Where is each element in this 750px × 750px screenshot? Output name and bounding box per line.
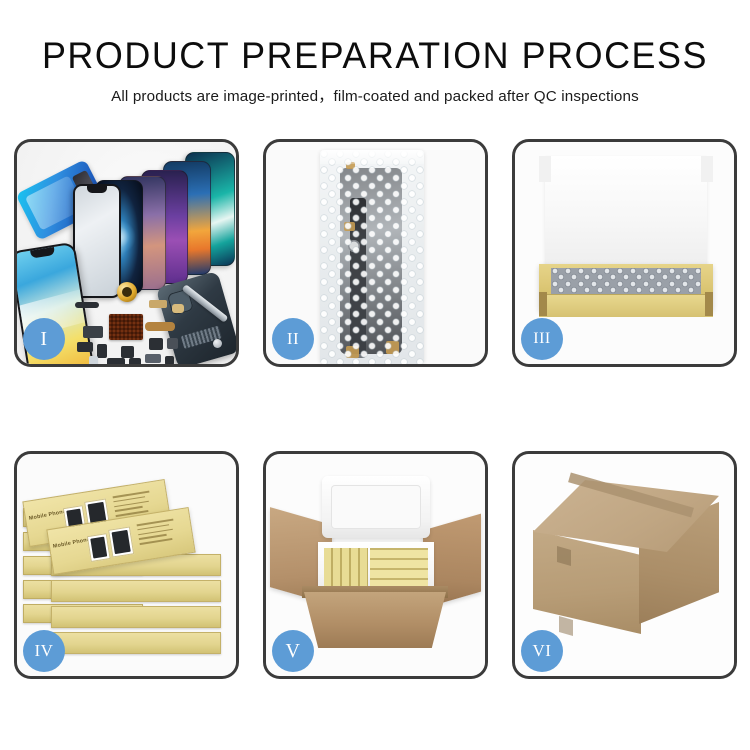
spare-part-graphic xyxy=(83,326,103,338)
kraft-box-front-graphic xyxy=(539,294,713,317)
bubble-texture-graphic xyxy=(320,150,424,364)
packed-boxes-graphic xyxy=(324,548,428,588)
panel-step-2: II xyxy=(263,139,488,367)
spare-part-graphic xyxy=(97,344,107,358)
foam-lid-graphic xyxy=(545,156,707,272)
badge-step-3: III xyxy=(521,318,563,360)
box-window-graphic xyxy=(108,526,134,557)
spare-part-graphic xyxy=(172,304,184,313)
flex-mesh-part-graphic xyxy=(109,314,143,340)
box-spec-lines-graphic xyxy=(137,517,189,552)
bubble-wrap-bag-graphic xyxy=(320,150,424,364)
badge-step-4: IV xyxy=(23,630,65,672)
product-preparation-infographic: PRODUCT PREPARATION PROCESS All products… xyxy=(0,0,750,750)
packed-boxes-left-graphic xyxy=(324,548,368,588)
spare-part-graphic xyxy=(165,356,174,364)
stacked-box-edge xyxy=(51,580,221,602)
panel-step-1: I xyxy=(14,139,239,367)
box-window-graphic xyxy=(87,533,111,562)
spare-part-graphic xyxy=(89,356,98,364)
panel-step-5: V xyxy=(263,451,488,679)
phone-fan-group xyxy=(89,150,236,280)
page-subtitle: All products are image-printed，film-coat… xyxy=(0,84,750,106)
spare-part-graphic xyxy=(167,338,178,349)
spare-part-graphic xyxy=(145,354,161,363)
spare-part-graphic xyxy=(149,300,167,308)
badge-step-6: VI xyxy=(521,630,563,672)
header: PRODUCT PREPARATION PROCESS All products… xyxy=(0,36,750,106)
box-corner-graphic xyxy=(539,292,547,316)
bag-seal-graphic xyxy=(320,150,424,164)
carton-front-graphic xyxy=(304,592,446,648)
stacked-box-edge xyxy=(51,606,221,628)
badge-step-5: V xyxy=(272,630,314,672)
packed-boxes-right-graphic xyxy=(370,548,428,588)
page-title: PRODUCT PREPARATION PROCESS xyxy=(11,36,739,76)
camera-ring-part-graphic xyxy=(117,282,137,302)
spare-part-graphic xyxy=(121,346,134,358)
panel-step-6: VI xyxy=(512,451,737,679)
panel-step-3: III xyxy=(512,139,737,367)
foam-lid-graphic xyxy=(322,476,430,538)
spare-part-graphic xyxy=(129,358,141,364)
process-step-grid: I II xyxy=(14,139,736,679)
box-corner-graphic xyxy=(705,292,713,316)
badge-step-1: I xyxy=(23,318,65,360)
stacked-box-edge xyxy=(51,632,221,654)
spare-part-graphic xyxy=(77,342,93,352)
badge-step-2: II xyxy=(272,318,314,360)
panel-step-4: Mobile Phone Spare Parts Mobile Phone Sp… xyxy=(14,451,239,679)
spare-part-graphic xyxy=(145,322,175,331)
spare-part-graphic xyxy=(75,302,99,308)
screw-graphic xyxy=(213,339,222,348)
spare-part-graphic xyxy=(107,358,125,364)
spare-part-graphic xyxy=(149,338,163,350)
